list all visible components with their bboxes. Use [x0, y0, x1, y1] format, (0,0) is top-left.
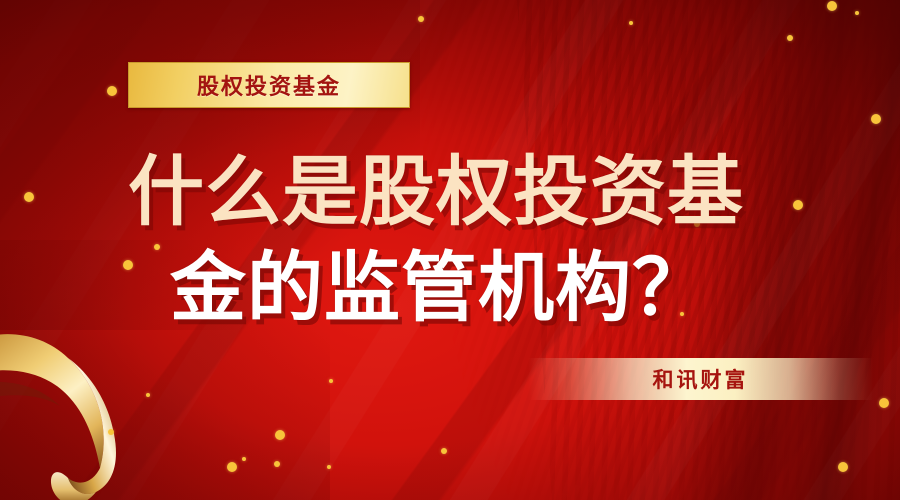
gold-dot	[107, 86, 117, 96]
headline-block: 什么是股权投资基 金的监管机构？	[0, 150, 900, 330]
gold-dot	[327, 465, 331, 469]
gold-dot	[275, 430, 285, 440]
gold-dot	[242, 457, 246, 461]
gold-dot	[418, 16, 424, 22]
gold-dot	[838, 462, 848, 472]
gold-dot	[787, 35, 793, 41]
gold-dot	[108, 429, 114, 435]
brand-label: 和讯财富	[653, 364, 749, 394]
poster-canvas: 股权投资基金 什么是股权投资基 金的监管机构？ 和讯财富	[0, 0, 900, 500]
gold-dot	[871, 114, 881, 124]
gold-dot	[879, 398, 889, 408]
category-tag-label: 股权投资基金	[197, 69, 341, 101]
gold-dot	[855, 11, 859, 15]
gold-dot	[227, 462, 237, 472]
gold-dot	[629, 21, 633, 25]
gold-dot	[827, 1, 837, 11]
category-tag-badge: 股权投资基金	[128, 62, 410, 108]
gold-dot	[146, 393, 150, 397]
gold-dot	[441, 448, 447, 454]
gold-dot	[274, 461, 280, 467]
brand-banner: 和讯财富	[528, 358, 873, 400]
headline-line-1: 什么是股权投资基	[128, 150, 900, 234]
headline-line-2: 金的监管机构？	[170, 246, 900, 330]
gold-dot	[329, 379, 333, 383]
